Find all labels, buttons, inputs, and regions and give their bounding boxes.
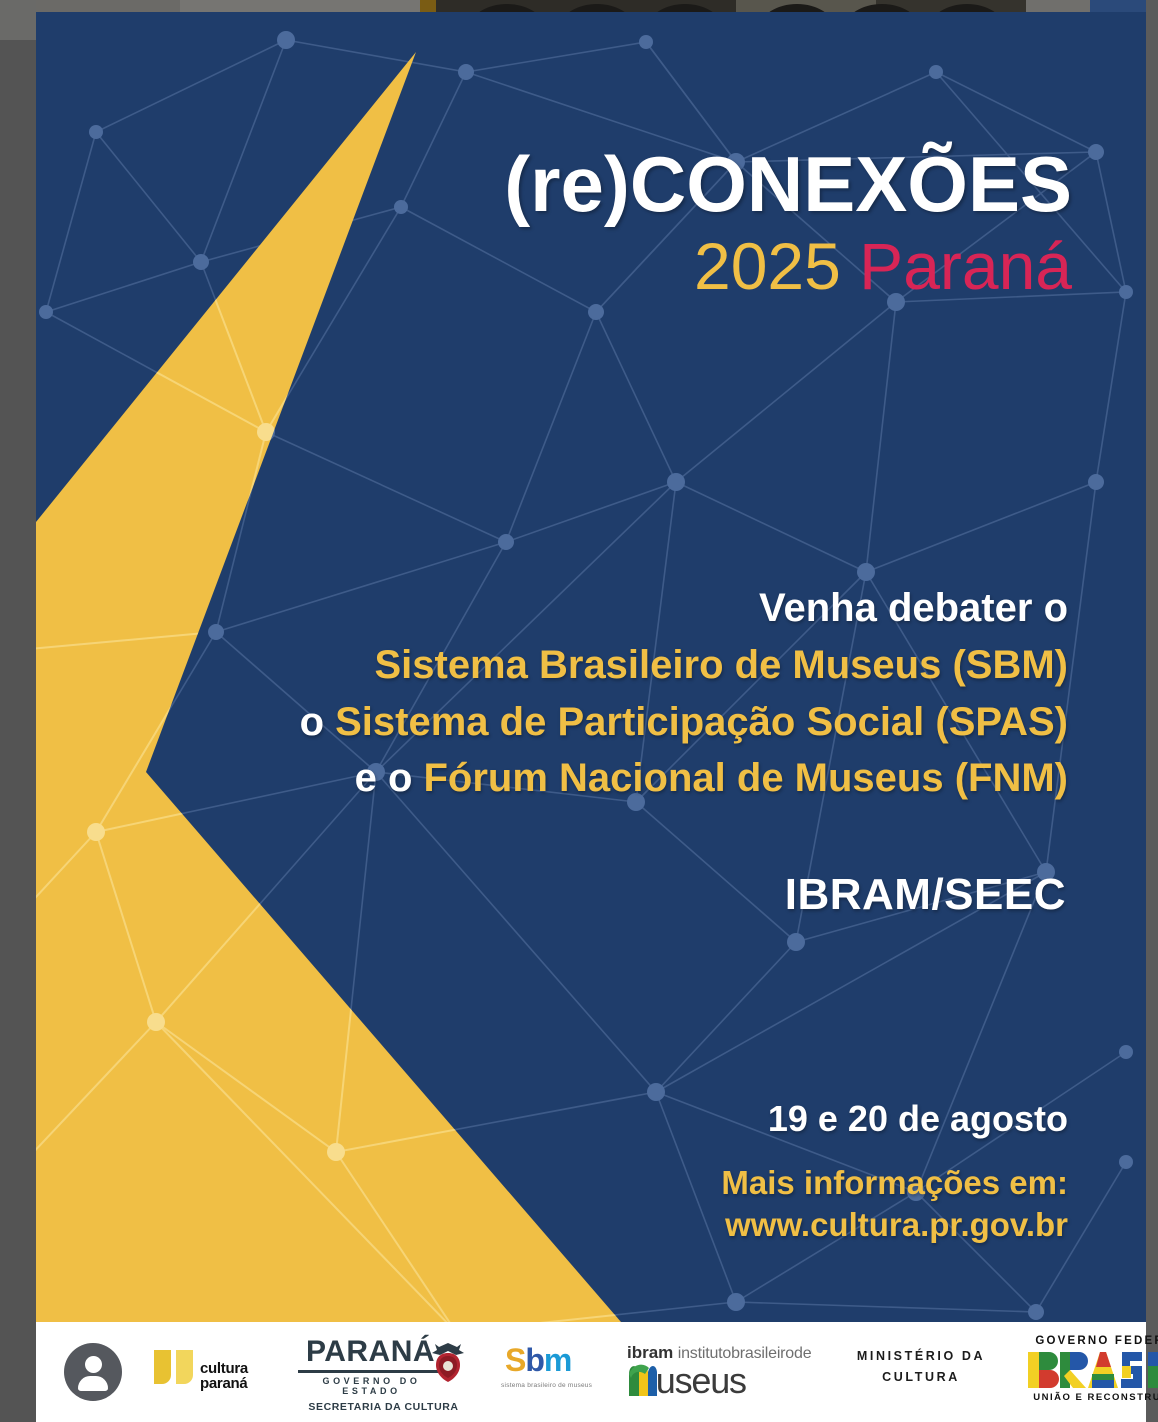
sbm-letter-b: b <box>525 1342 544 1378</box>
body-line-2-gold: Sistema Brasileiro de Museus (SBM) <box>374 643 1068 687</box>
brasil-colorblock-wordmark <box>1021 1350 1158 1390</box>
more-info-block: Mais informações em: www.cultura.pr.gov.… <box>721 1162 1068 1246</box>
body-line-1: Venha debater o <box>300 580 1068 637</box>
quote-mark-icon <box>154 1350 198 1389</box>
body-line-4: e o Fórum Nacional de Museus (FNM) <box>300 750 1068 807</box>
cultura-parana-wordmark: cultura paraná <box>200 1361 248 1392</box>
body-line-3-white: o <box>300 700 324 744</box>
sbm-wordmark: Sbm <box>501 1344 601 1376</box>
body-line-4-white: e o <box>355 756 413 800</box>
poster-body-copy: Venha debater o Sistema Brasileiro de Mu… <box>300 580 1068 807</box>
screen: ta <box>0 0 1158 1422</box>
sbm-letter-m: m <box>544 1342 571 1378</box>
logo-ministerio-da-cultura[interactable]: MINISTÉRIO DA CULTURA <box>855 1349 987 1395</box>
logo-governo-federal-brasil[interactable]: GOVERNO FEDERAL <box>1021 1335 1158 1409</box>
person-avatar-icon[interactable] <box>64 1343 122 1401</box>
avatar-head-shape <box>85 1356 102 1373</box>
organizers-line: IBRAM/SEEC <box>785 870 1066 920</box>
logo-cultura-parana[interactable]: cultura paraná <box>150 1344 260 1400</box>
page-gutter-left <box>0 0 36 1422</box>
logo-row: cultura paraná PARANÁ GOVERNO DO ESTADO … <box>122 1335 1158 1409</box>
body-line-3: o Sistema de Participação Social (SPAS) <box>300 694 1068 751</box>
sbm-tagline: sistema brasileiro de museus <box>501 1382 601 1389</box>
headline-subtitle: 2025 Paraná <box>504 233 1072 300</box>
avatar-body-shape <box>78 1376 108 1391</box>
more-info-url[interactable]: www.cultura.pr.gov.br <box>721 1204 1068 1246</box>
cultura-line2: paraná <box>200 1376 248 1391</box>
museus-wordmark: m useus <box>627 1363 813 1399</box>
headline-year: 2025 <box>694 229 841 303</box>
gutter-top-cap <box>0 0 36 40</box>
logo-sbm[interactable]: Sbm sistema brasileiro de museus <box>501 1344 601 1400</box>
event-date: 19 e 20 de agosto <box>721 1098 1068 1140</box>
minc-line1: MINISTÉRIO DA <box>855 1349 987 1363</box>
body-line-1-tail: o <box>1044 586 1068 630</box>
gf-top-text: GOVERNO FEDERAL <box>1021 1335 1158 1347</box>
sponsor-logo-bar: cultura paraná PARANÁ GOVERNO DO ESTADO … <box>36 1322 1146 1422</box>
headline-title: (re)CONEXÕES <box>504 145 1072 225</box>
museus-colored-m: m <box>627 1363 656 1399</box>
body-line-2: Sistema Brasileiro de Museus (SBM) <box>300 637 1068 694</box>
headline-state: Paraná <box>859 229 1072 303</box>
minc-line2: CULTURA <box>855 1370 987 1384</box>
event-details: 19 e 20 de agosto Mais informações em: w… <box>721 1098 1068 1246</box>
logo-ibram-museus[interactable]: ibram institutobrasileirode m useus <box>627 1344 813 1400</box>
poster-image[interactable]: (re)CONEXÕES 2025 Paraná Venha debater o… <box>36 12 1146 1422</box>
body-line-1-white: Venha debater <box>759 586 1032 630</box>
poster-headline: (re)CONEXÕES 2025 Paraná <box>504 145 1072 300</box>
parana-crest-icon <box>431 1341 465 1383</box>
museus-text: useus <box>656 1360 746 1401</box>
cultura-line1: cultura <box>200 1361 248 1376</box>
gf-bottom-text: UNIÃO E RECONSTRUÇÃO <box>1021 1392 1158 1403</box>
parana-rule <box>298 1370 445 1373</box>
logo-parana-governo[interactable]: PARANÁ GOVERNO DO ESTADO SECRETARIA DA C… <box>296 1337 471 1407</box>
body-line-4-gold: Fórum Nacional de Museus (FNM) <box>424 756 1069 800</box>
sbm-letter-s: S <box>505 1342 525 1378</box>
page-gutter-right <box>1146 0 1158 1422</box>
more-info-label: Mais informações em: <box>721 1162 1068 1204</box>
body-line-3-gold: Sistema de Participação Social (SPAS) <box>335 700 1068 744</box>
parana-secretaria-text: SECRETARIA DA CULTURA <box>296 1401 471 1413</box>
